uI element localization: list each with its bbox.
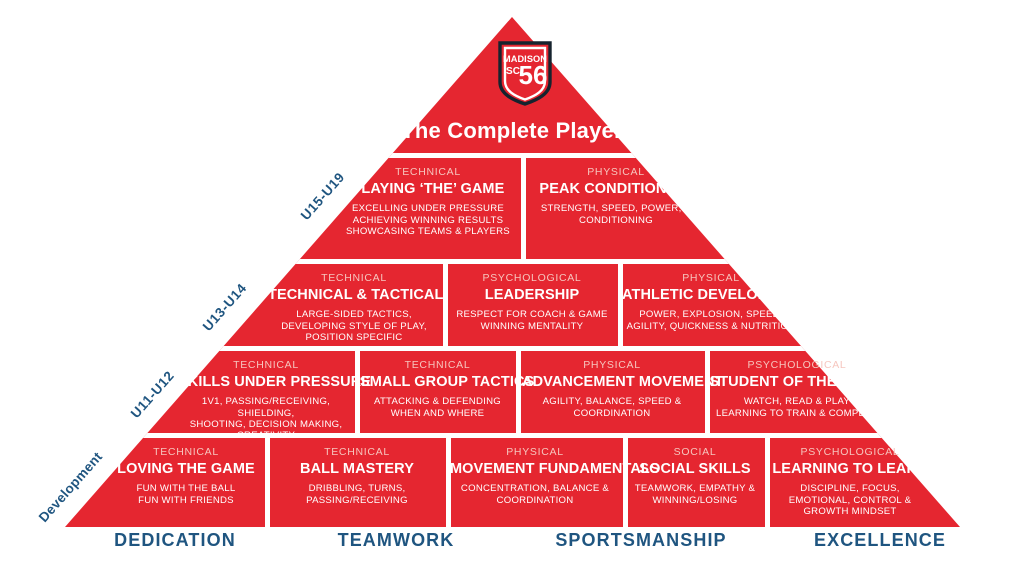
- row-separator-1: [0, 259, 1024, 264]
- tier-cell-t3-c3[interactable]: PHYSICAL ADVANCEMENT MOVEMENT AGILITY, B…: [522, 359, 702, 419]
- cell-title: STUDENT OF THE GAME: [709, 374, 885, 391]
- cell-description-line: CONDITIONING: [526, 215, 706, 226]
- cell-description: CONCENTRATION, BALANCE & COORDINATION: [450, 483, 620, 506]
- cell-description: RESPECT FOR COACH & GAME WINNING MENTALI…: [447, 309, 617, 332]
- cell-description: DISCIPLINE, FOCUS, EMOTIONAL, CONTROL & …: [770, 483, 930, 517]
- cell-description-line: CONCENTRATION, BALANCE &: [450, 483, 620, 494]
- cell-description-line: FUN WITH THE BALL: [110, 483, 262, 494]
- cell-description-line: COORDINATION: [522, 408, 702, 419]
- cell-title: BALL MASTERY: [271, 461, 443, 478]
- cell-title: MOVEMENT FUNDAMENTALS: [450, 461, 620, 478]
- cell-description-line: WINNING MENTALITY: [447, 321, 617, 332]
- tier-cell-t2-c2[interactable]: PSYCHOLOGICAL LEADERSHIP RESPECT FOR COA…: [447, 272, 617, 332]
- cell-description-line: SHOWCASING TEAMS & PLAYERS: [338, 226, 518, 237]
- cell-title: LOVING THE GAME: [110, 461, 262, 478]
- cell-category: PHYSICAL: [526, 166, 706, 178]
- cell-description-line: LEARNING TO TRAIN & COMPETE: [709, 408, 885, 419]
- value-word-dedication: DEDICATION: [55, 530, 295, 551]
- value-word-teamwork: TEAMWORK: [276, 530, 516, 551]
- cell-title: ATHLETIC DEVELOPMENT: [622, 287, 800, 304]
- svg-text:56: 56: [519, 60, 548, 90]
- cell-description: ATTACKING & DEFENDING WHEN AND WHERE: [360, 396, 515, 419]
- cell-description: AGILITY, BALANCE, SPEED & COORDINATION: [522, 396, 702, 419]
- cell-title: PLAYING ‘THE’ GAME: [338, 181, 518, 198]
- tier-cell-t4-c4[interactable]: SOCIAL SOCIAL SKILLS TEAMWORK, EMPATHY &…: [628, 446, 762, 506]
- tier-cell-t3-c2[interactable]: TECHNICAL SMALL GROUP TACTICS ATTACKING …: [360, 359, 515, 419]
- row-separator-3: [0, 433, 1024, 438]
- cell-category: PHYSICAL: [522, 359, 702, 371]
- cell-category: PHYSICAL: [450, 446, 620, 458]
- cell-title: SOCIAL SKILLS: [628, 461, 762, 478]
- tier-cell-t2-c3[interactable]: PHYSICAL ATHLETIC DEVELOPMENT POWER, EXP…: [622, 272, 800, 332]
- cell-description: TEAMWORK, EMPATHY & WINNING/LOSING: [628, 483, 762, 506]
- cell-description-line: WINNING/LOSING: [628, 495, 762, 506]
- cell-category: PSYCHOLOGICAL: [770, 446, 930, 458]
- cell-title: LEADERSHIP: [447, 287, 617, 304]
- cell-description-line: RESPECT FOR COACH & GAME: [447, 309, 617, 320]
- cell-category: TECHNICAL: [271, 446, 443, 458]
- cell-category: PSYCHOLOGICAL: [709, 359, 885, 371]
- cell-category: TECHNICAL: [268, 272, 440, 284]
- cell-category: PHYSICAL: [622, 272, 800, 284]
- cell-description-line: AGILITY, QUICKNESS & NUTRITION: [622, 321, 800, 332]
- cell-description-line: LARGE-SIDED TACTICS,: [268, 309, 440, 320]
- cell-description-line: COORDINATION: [450, 495, 620, 506]
- cell-description: EXCELLING UNDER PRESSURE ACHIEVING WINNI…: [338, 203, 518, 237]
- row-separator-apex: [0, 153, 1024, 158]
- row-separator-2: [0, 346, 1024, 351]
- cell-description-line: FUN WITH FRIENDS: [110, 495, 262, 506]
- cell-description-line: DEVELOPING STYLE OF PLAY,: [268, 321, 440, 332]
- cell-description-line: CREATIVITY: [178, 430, 354, 441]
- tier-cell-t4-c3[interactable]: PHYSICAL MOVEMENT FUNDAMENTALS CONCENTRA…: [450, 446, 620, 506]
- cell-title: SKILLS UNDER PRESSURE: [178, 374, 354, 391]
- cell-title: TECHNICAL & TACTICAL: [268, 287, 440, 304]
- cell-description: DRIBBLING, TURNS, PASSING/RECEIVING: [271, 483, 443, 506]
- cell-description: FUN WITH THE BALL FUN WITH FRIENDS: [110, 483, 262, 506]
- player-development-pyramid-diagram: MADISON SC 56 The Complete Player TECHNI…: [0, 0, 1024, 576]
- cell-description-line: STRENGTH, SPEED, POWER, &: [526, 203, 706, 214]
- cell-description: WATCH, READ & PLAY LEARNING TO TRAIN & C…: [709, 396, 885, 419]
- cell-description: 1V1, PASSING/RECEIVING, SHIELDING, SHOOT…: [178, 396, 354, 441]
- cell-description-line: SHOOTING, DECISION MAKING,: [178, 419, 354, 430]
- tier-cell-t1-c2[interactable]: PHYSICAL PEAK CONDITIONING STRENGTH, SPE…: [526, 166, 706, 226]
- cell-description-line: POSITION SPECIFIC: [268, 332, 440, 343]
- cell-description-line: TEAMWORK, EMPATHY &: [628, 483, 762, 494]
- cell-category: PSYCHOLOGICAL: [447, 272, 617, 284]
- cell-description-line: DRIBBLING, TURNS,: [271, 483, 443, 494]
- tier-cell-t1-c1[interactable]: TECHNICAL PLAYING ‘THE’ GAME EXCELLING U…: [338, 166, 518, 237]
- cell-description-line: POWER, EXPLOSION, SPEED,: [622, 309, 800, 320]
- cell-title: LEARNING TO LEARN: [770, 461, 930, 478]
- cell-description-line: EXCELLING UNDER PRESSURE: [338, 203, 518, 214]
- cell-description-line: DISCIPLINE, FOCUS,: [770, 483, 930, 494]
- cell-description-line: ACHIEVING WINNING RESULTS: [338, 215, 518, 226]
- cell-description-line: ATTACKING & DEFENDING: [360, 396, 515, 407]
- cell-title: PEAK CONDITIONING: [526, 181, 706, 198]
- cell-category: TECHNICAL: [360, 359, 515, 371]
- cell-description-line: WHEN AND WHERE: [360, 408, 515, 419]
- value-word-sportsmanship: SPORTSMANSHIP: [521, 530, 761, 551]
- tier-cell-t2-c1[interactable]: TECHNICAL TECHNICAL & TACTICAL LARGE-SID…: [268, 272, 440, 343]
- cell-category: TECHNICAL: [110, 446, 262, 458]
- cell-description-line: EMOTIONAL, CONTROL &: [770, 495, 930, 506]
- cell-title: SMALL GROUP TACTICS: [360, 374, 515, 391]
- cell-divider-t4-a: [265, 437, 270, 527]
- cell-description: LARGE-SIDED TACTICS, DEVELOPING STYLE OF…: [268, 309, 440, 343]
- cell-category: SOCIAL: [628, 446, 762, 458]
- tier-cell-t3-c1[interactable]: TECHNICAL SKILLS UNDER PRESSURE 1V1, PAS…: [178, 359, 354, 442]
- cell-description-line: PASSING/RECEIVING: [271, 495, 443, 506]
- tier-cell-t3-c4[interactable]: PSYCHOLOGICAL STUDENT OF THE GAME WATCH,…: [709, 359, 885, 419]
- cell-description-line: GROWTH MINDSET: [770, 506, 930, 517]
- apex-title: The Complete Player: [0, 118, 1024, 144]
- tier-cell-t4-c1[interactable]: TECHNICAL LOVING THE GAME FUN WITH THE B…: [110, 446, 262, 506]
- cell-title: ADVANCEMENT MOVEMENT: [522, 374, 702, 391]
- tier-cell-t4-c2[interactable]: TECHNICAL BALL MASTERY DRIBBLING, TURNS,…: [271, 446, 443, 506]
- cell-category: TECHNICAL: [178, 359, 354, 371]
- cell-description: STRENGTH, SPEED, POWER, & CONDITIONING: [526, 203, 706, 226]
- cell-category: TECHNICAL: [338, 166, 518, 178]
- cell-description-line: WATCH, READ & PLAY: [709, 396, 885, 407]
- cell-divider-t3-b: [516, 350, 521, 433]
- cell-description-line: AGILITY, BALANCE, SPEED &: [522, 396, 702, 407]
- tier-cell-t4-c5[interactable]: PSYCHOLOGICAL LEARNING TO LEARN DISCIPLI…: [770, 446, 930, 517]
- madison-sc-56-shield-logo: MADISON SC 56: [497, 40, 553, 106]
- cell-description-line: 1V1, PASSING/RECEIVING, SHIELDING,: [178, 396, 354, 419]
- value-word-excellence: EXCELLENCE: [760, 530, 1000, 551]
- cell-description: POWER, EXPLOSION, SPEED, AGILITY, QUICKN…: [622, 309, 800, 332]
